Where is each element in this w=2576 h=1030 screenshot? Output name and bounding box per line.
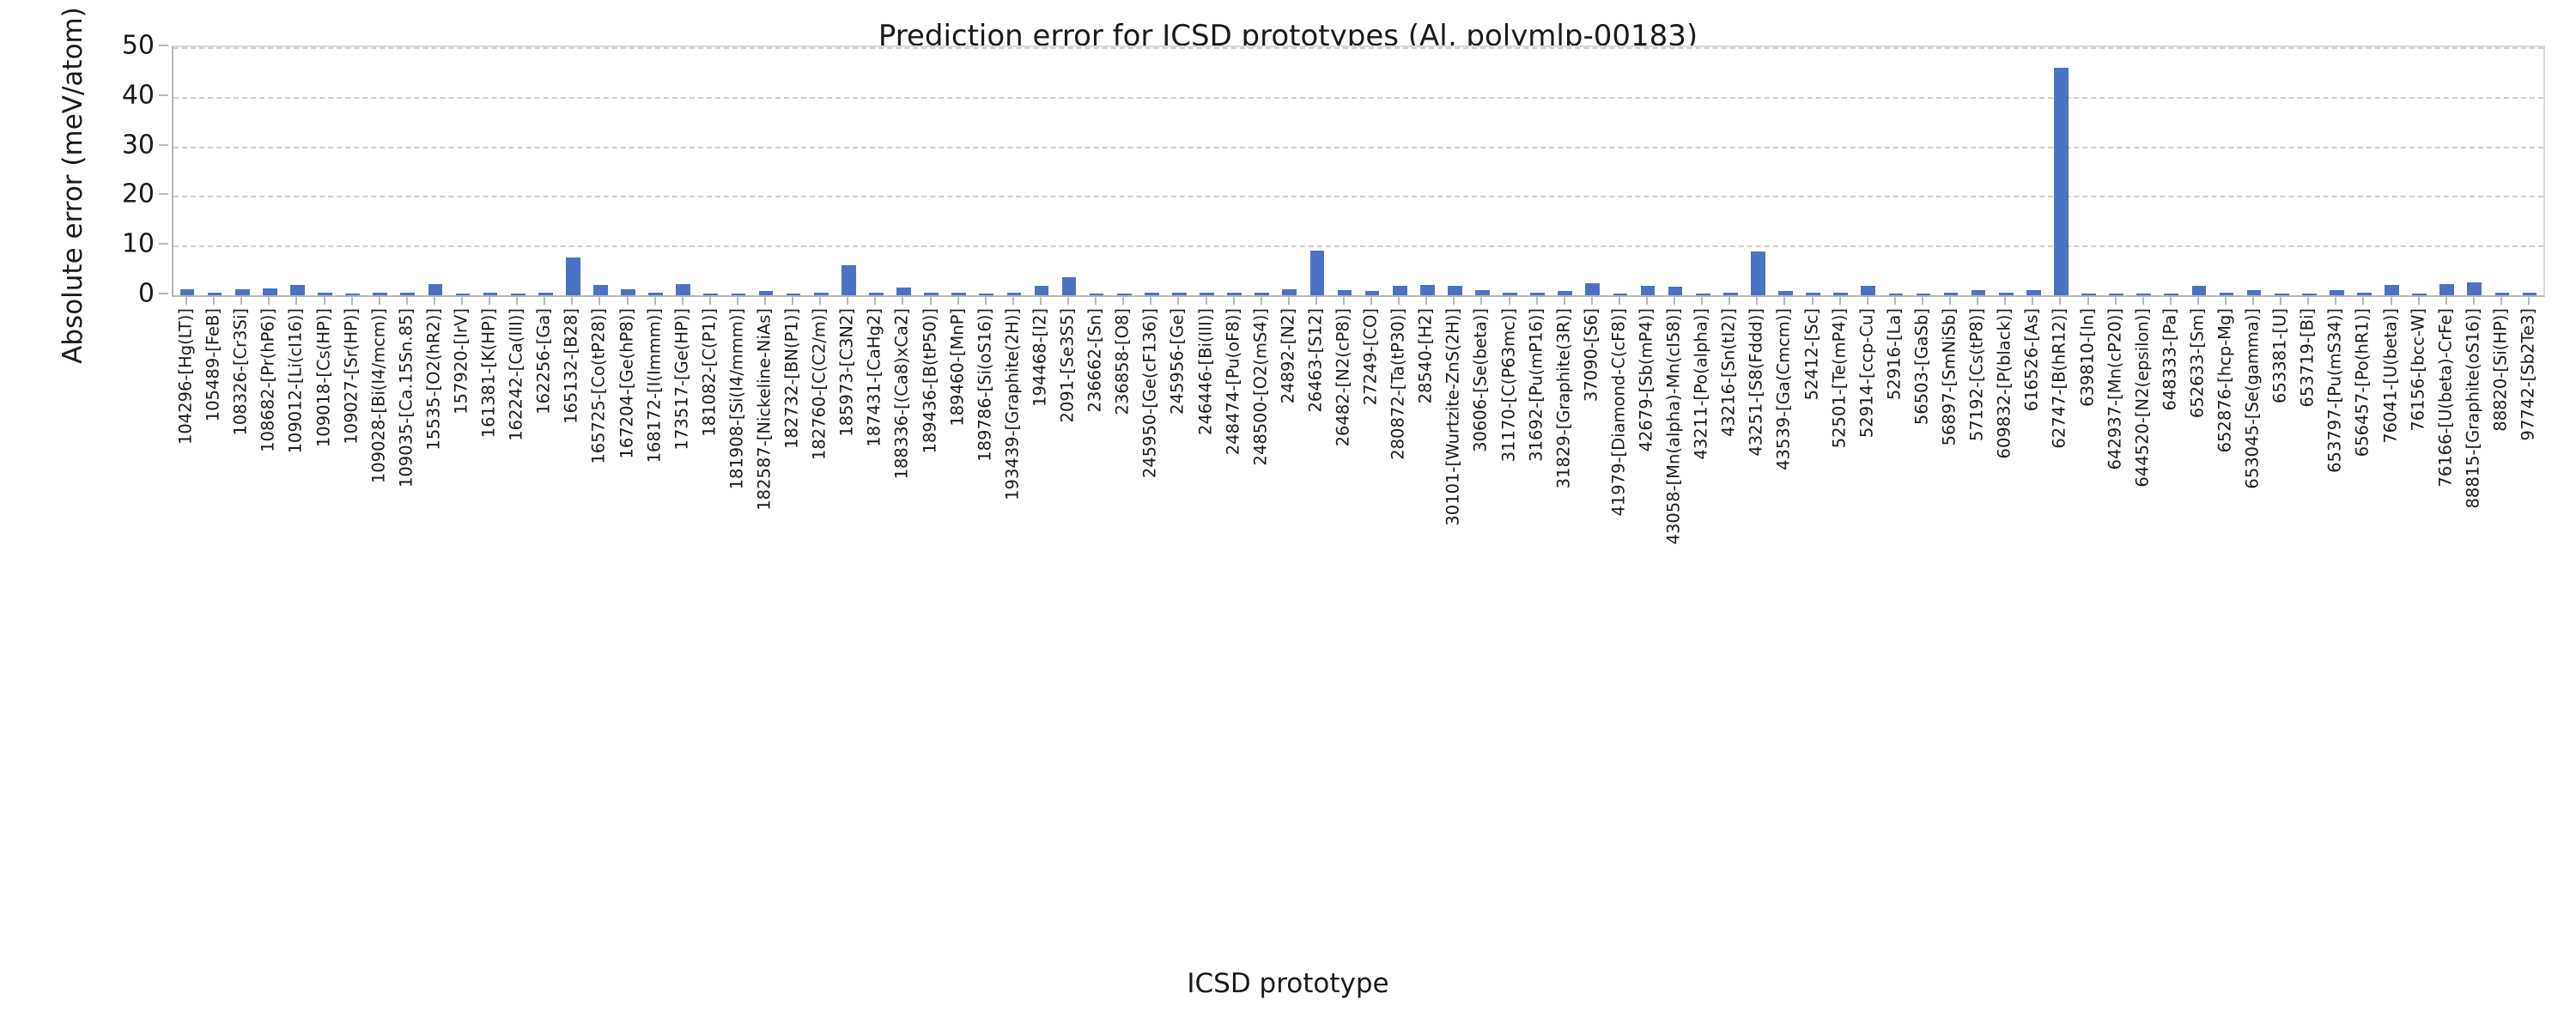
x-tick-mark (516, 296, 518, 305)
bar-slot (1028, 47, 1055, 295)
x-tick-label: 188336-[(Ca8)xCa2] (894, 308, 911, 479)
x-tick-mark (1425, 296, 1427, 305)
bar (235, 289, 250, 296)
bar (1999, 293, 2014, 295)
bar-slot (1662, 47, 1689, 295)
x-tick-label: 280872-[Ta(tP30)] (1389, 308, 1406, 460)
bar-slot (1607, 47, 1634, 295)
x-tick-mark (1012, 296, 1014, 305)
bar (1035, 286, 1049, 295)
bar-slot (1497, 47, 1524, 295)
bar (1944, 293, 1959, 295)
bar (1338, 290, 1352, 295)
x-tick-mark (1095, 296, 1097, 305)
x-tick-label: 30606-[Se(beta)] (1473, 308, 1490, 452)
x-tick-label: 27249-[CO] (1362, 308, 1379, 405)
x-tick-label: 187431-[CaHg2] (866, 308, 884, 447)
bar (951, 293, 966, 295)
bar-slot (2185, 47, 2213, 295)
bar-slot (2075, 47, 2102, 295)
bar-slot (1579, 47, 1607, 295)
bar (896, 288, 911, 295)
bar-slot (311, 47, 338, 295)
bar (2247, 290, 2262, 295)
x-tick-mark (434, 296, 435, 305)
bar-slot (1138, 47, 1165, 295)
bar (2054, 68, 2069, 295)
bar (1227, 293, 1242, 295)
bar (2385, 285, 2399, 295)
bar (456, 294, 471, 295)
bar (373, 293, 387, 295)
x-tick-mark (1122, 296, 1124, 305)
x-tick-label: 181908-[Si(I4/mmm)] (728, 308, 745, 489)
bar (2523, 293, 2537, 295)
bar (1200, 293, 1214, 295)
bar-slot (201, 47, 228, 295)
x-tick-label: 28540-[H2] (1418, 308, 1435, 403)
x-tick-mark (2307, 296, 2309, 305)
x-tick-label: 109028-[Bi(I4/mcm)] (370, 308, 387, 483)
bar-slot (725, 47, 752, 295)
bar-slot (752, 47, 780, 295)
x-tick-mark (792, 296, 793, 305)
x-tick-mark (1398, 296, 1400, 305)
x-tick-label: 194468-[I2] (1031, 308, 1048, 407)
bar (2357, 293, 2372, 295)
bar (979, 294, 993, 295)
bar-slot (2350, 47, 2378, 295)
x-tick-mark (489, 296, 490, 305)
x-tick-label: 62747-[B(hR12)] (2051, 308, 2069, 449)
bar (483, 293, 498, 295)
bar (593, 285, 608, 295)
x-tick-label: 182587-[Nickeline-NiAs] (756, 308, 773, 511)
x-tick-mark (406, 296, 408, 305)
x-tick-mark (1536, 296, 1538, 305)
bar-slot (1524, 47, 1552, 295)
x-tick-mark (709, 296, 711, 305)
bar (511, 294, 526, 295)
bar-series (173, 47, 2543, 295)
x-tick-label: 185973-[C3N2] (839, 308, 856, 437)
x-tick-label: 43216-[Sn(tI2)] (1721, 308, 1738, 437)
bar (180, 289, 195, 295)
x-tick-mark (2170, 296, 2172, 305)
bar (2439, 284, 2454, 295)
bar (1723, 293, 1738, 295)
x-tick-label: 56897-[SmNiSb] (1941, 308, 1958, 445)
x-tick-mark (1977, 296, 1978, 305)
bar (2109, 294, 2123, 295)
bar-slot (1276, 47, 1303, 295)
x-tick-label: 43058-[Mn(alpha)-Mn(cI58)] (1665, 308, 1682, 544)
x-tick-label: 31692-[Pu(mP16)] (1528, 308, 1545, 462)
x-tick-label: 109012-[Li(cI16)] (288, 308, 305, 453)
bar-slot (2268, 47, 2295, 295)
x-tick-mark (379, 296, 380, 305)
y-tick-mark (159, 293, 168, 294)
bar (703, 294, 718, 295)
bar-slot (449, 47, 477, 295)
bar-slot (1055, 47, 1083, 295)
bar (2302, 294, 2317, 295)
x-tick-mark (2500, 296, 2502, 305)
bar (732, 294, 746, 295)
bar (2220, 293, 2234, 295)
bar (263, 288, 277, 295)
bar-slot (559, 47, 586, 295)
bar (924, 293, 939, 295)
bar-slot (670, 47, 697, 295)
x-tick-label: 245950-[Ge(cF136)] (1142, 308, 1159, 478)
x-tick-label: 652633-[Sm] (2189, 308, 2206, 418)
bar-slot (1634, 47, 1662, 295)
x-tick-label: 57192-[Cs(tP8)] (1968, 308, 1985, 441)
bar (676, 284, 690, 295)
bar (1503, 293, 1517, 295)
bar (1090, 294, 1104, 295)
x-tick-mark (2197, 296, 2199, 305)
bar (1393, 286, 1407, 295)
x-axis-label: ICSD prototype (0, 968, 2576, 999)
bar-slot (2433, 47, 2461, 295)
x-tick-label: 26463-[S12] (1307, 308, 1324, 412)
bar (1530, 293, 1545, 295)
x-tick-label: 108682-[Pr(hP6)] (260, 308, 277, 452)
x-tick-mark (1067, 296, 1069, 305)
bar (290, 285, 305, 295)
bar (1448, 286, 1462, 295)
x-tick-label: 76156-[bcc-W] (2409, 308, 2427, 432)
x-tick-mark (957, 296, 959, 305)
x-tick-mark (1261, 296, 1262, 305)
x-tick-label: 173517-[Ge(HP)] (673, 308, 690, 450)
x-tick-label: 52412-[Sc] (1803, 308, 1820, 400)
bar-slot (2406, 47, 2433, 295)
bar (869, 293, 884, 295)
x-tick-label: 161381-[K(HP)] (480, 308, 497, 438)
x-tick-mark (571, 296, 573, 305)
bar-slot (367, 47, 394, 295)
bar (400, 293, 415, 295)
bar (2026, 290, 2041, 295)
x-tick-label: 31829-[Graphite(3R)] (1555, 308, 1572, 488)
x-tick-mark (2115, 296, 2117, 305)
bar (2330, 290, 2344, 295)
bar (1145, 293, 1159, 295)
bar-slot (2213, 47, 2240, 295)
x-tick-label: 653719-[Bi] (2300, 308, 2317, 408)
x-tick-mark (2252, 296, 2254, 305)
x-tick-label: 168172-[I(Immm)] (646, 308, 663, 463)
x-tick-mark (213, 296, 215, 305)
x-tick-label: 653045-[Se(gamma)] (2244, 308, 2261, 489)
x-tick-mark (682, 296, 683, 305)
x-tick-mark (351, 296, 353, 305)
x-tick-label: 24892-[N2] (1279, 308, 1297, 403)
bar (1613, 294, 1628, 295)
x-tick-mark (2225, 296, 2227, 305)
x-tick-mark (902, 296, 903, 305)
bar-slot (477, 47, 504, 295)
x-tick-label: 76166-[U(beta)-CrFe] (2437, 308, 2454, 488)
bar-slot (1882, 47, 1910, 295)
y-tick-mark (159, 144, 168, 146)
x-tick-mark (295, 296, 297, 305)
bar (1117, 294, 1132, 295)
x-tick-mark (1343, 296, 1345, 305)
bar-slot (532, 47, 559, 295)
bar (1420, 285, 1435, 295)
x-tick-mark (2362, 296, 2364, 305)
y-tick-mark (159, 243, 168, 245)
x-tick-label: 642937-[Mn(cP20)] (2106, 308, 2123, 470)
x-tick-label: 109018-[Cs(HP)] (315, 308, 332, 447)
bar (538, 293, 553, 295)
bar-slot (1910, 47, 1937, 295)
bar (2081, 294, 2096, 295)
bar (2192, 286, 2207, 295)
x-tick-label: 41979-[Diamond-C(cF8)] (1610, 308, 1627, 517)
bar-slot (2488, 47, 2516, 295)
bar (1475, 290, 1490, 295)
bar-slot (339, 47, 367, 295)
bar-slot (642, 47, 670, 295)
bar (2495, 293, 2510, 295)
bar-slot (394, 47, 422, 295)
bar-slot (1110, 47, 1138, 295)
x-tick-mark (627, 296, 629, 305)
bar-slot (2240, 47, 2268, 295)
x-tick-label: 109035-[Ca.15Sn.85] (398, 308, 415, 488)
x-tick-label: 52914-[ccp-Cu] (1858, 308, 1875, 438)
x-tick-mark (737, 296, 738, 305)
plot-area (172, 45, 2545, 297)
x-tick-mark (1783, 296, 1785, 305)
bar (208, 293, 222, 295)
bar-slot (1441, 47, 1468, 295)
x-tick-label: 189460-[MnP] (949, 308, 966, 427)
x-tick-label: 30101-[Wurtzite-ZnS(2H)] (1445, 308, 1462, 526)
x-tick-mark (930, 296, 932, 305)
x-tick-mark (1453, 296, 1455, 305)
bar-slot (586, 47, 614, 295)
x-tick-mark (544, 296, 545, 305)
x-tick-mark (268, 296, 270, 305)
x-tick-mark (1756, 296, 1758, 305)
bar (1282, 289, 1297, 295)
x-tick-label: 181082-[C(P1)] (701, 308, 718, 437)
x-tick-mark (1177, 296, 1179, 305)
x-tick-mark (2445, 296, 2447, 305)
y-tick-mark (159, 193, 168, 195)
x-tick-label: 656457-[Po(hR1)] (2354, 308, 2372, 457)
bar (2164, 294, 2178, 295)
x-tick-mark (2032, 296, 2033, 305)
bar (1558, 291, 1572, 295)
x-tick-mark (654, 296, 656, 305)
x-tick-mark (1812, 296, 1814, 305)
bar (1751, 251, 1765, 295)
x-tick-label: 97742-[Sb2Te3] (2519, 308, 2537, 440)
x-tick-mark (185, 296, 187, 305)
bar-slot (1000, 47, 1028, 295)
x-tick-label: 189786-[Si(oS16)] (976, 308, 993, 462)
x-tick-label: 43251-[S8(Fddd)] (1748, 308, 1765, 457)
bar-slot (945, 47, 973, 295)
x-tick-label: 2091-[Se3S5] (1059, 308, 1076, 422)
bar (841, 265, 856, 295)
x-tick-mark (1619, 296, 1620, 305)
x-tick-label: 648333-[Pa] (2161, 308, 2178, 411)
x-tick-label: 43211-[Po(alpha)] (1692, 308, 1710, 460)
bar-slot (2047, 47, 2075, 295)
x-tick-mark (1701, 296, 1703, 305)
bar-slot (2020, 47, 2047, 295)
x-tick-label: 616526-[As] (2024, 308, 2041, 411)
x-tick-mark (1509, 296, 1510, 305)
x-tick-mark (874, 296, 876, 305)
bar-slot (1249, 47, 1276, 295)
bar-slot (1552, 47, 1579, 295)
x-tick-mark (1728, 296, 1730, 305)
x-tick-mark (240, 296, 242, 305)
x-tick-mark (847, 296, 848, 305)
x-tick-label: 248474-[Pu(oF8)] (1224, 308, 1242, 455)
bar (1696, 294, 1710, 295)
x-tick-label: 52916-[La] (1886, 308, 1903, 400)
bar-slot (1303, 47, 1331, 295)
x-tick-mark (1674, 296, 1675, 305)
x-tick-mark (1480, 296, 1482, 305)
bar-slot (2379, 47, 2406, 295)
x-tick-mark (461, 296, 463, 305)
x-tick-mark (324, 296, 325, 305)
bar (787, 294, 801, 295)
x-tick-mark (2335, 296, 2336, 305)
x-tick-mark (1233, 296, 1235, 305)
bar (1007, 293, 1022, 295)
x-tick-mark (2473, 296, 2475, 305)
x-tick-label: 236662-[Sn] (1086, 308, 1103, 412)
x-tick-mark (1591, 296, 1593, 305)
bar-slot (1083, 47, 1110, 295)
bar-slot (890, 47, 917, 295)
bar-slot (2158, 47, 2185, 295)
bar-slot (1331, 47, 1358, 295)
bar-slot (1827, 47, 1855, 295)
x-tick-mark (1839, 296, 1841, 305)
bar-slot (504, 47, 532, 295)
x-tick-label: 182760-[C(C2/m)] (811, 308, 828, 460)
bar-slot (1165, 47, 1193, 295)
y-tick-label: 20 (122, 179, 155, 209)
bar (1641, 286, 1656, 295)
bar (1861, 286, 1875, 295)
x-tick-label: 165725-[Co(tP28)] (591, 308, 608, 464)
x-tick-mark (764, 296, 766, 305)
x-tick-label: 42679-[Sb(mP4)] (1637, 308, 1655, 451)
bar-slot (807, 47, 835, 295)
bar-slot (256, 47, 283, 295)
x-tick-label: 639810-[In] (2079, 308, 2096, 407)
bar-slot (973, 47, 1000, 295)
x-tick-label: 76041-[U(beta)] (2382, 308, 2399, 444)
x-tick-label: 182732-[BN(P1)] (783, 308, 800, 449)
x-tick-mark (1040, 296, 1042, 305)
bar-slot (1937, 47, 1965, 295)
x-tick-label: 162256-[Ga] (536, 308, 553, 415)
y-tick-mark (159, 45, 168, 46)
bar-slot (2295, 47, 2323, 295)
bar (2467, 282, 2482, 295)
x-tick-mark (1867, 296, 1868, 305)
y-tick-label: 30 (122, 130, 155, 160)
x-tick-label: 193439-[Graphite(2H)] (1004, 308, 1021, 500)
x-tick-mark (2087, 296, 2089, 305)
bar-slot (1413, 47, 1441, 295)
x-tick-mark (1564, 296, 1565, 305)
x-tick-label: 104296-[Hg(LT)] (177, 308, 194, 445)
bar-slot (862, 47, 890, 295)
bar (1971, 290, 1986, 295)
x-tick-label: 157920-[IrV] (453, 308, 470, 415)
bar-slot (1386, 47, 1413, 295)
x-tick-label: 189436-[B(tP50)] (921, 308, 939, 454)
x-tick-mark (985, 296, 987, 305)
x-tick-label: 31170-[C(P63mc)] (1500, 308, 1517, 462)
bar (1778, 291, 1793, 295)
bar-slot (1800, 47, 1827, 295)
x-tick-label: 88815-[Graphite(oS16)] (2464, 308, 2482, 509)
x-tick-label: 652876-[hcp-Mg] (2216, 308, 2233, 452)
bar (621, 289, 635, 296)
bar (1310, 251, 1325, 295)
bar (2412, 294, 2427, 295)
bar-slot (2130, 47, 2158, 295)
x-tick-label: 56503-[GaSb] (1913, 308, 1930, 425)
y-tick-label: 10 (122, 229, 155, 259)
x-tick-label: 109027-[Sr(HP)] (343, 308, 360, 445)
bar-slot (283, 47, 311, 295)
x-tick-label: 653797-[Pu(mS34)] (2327, 308, 2344, 473)
bar (2275, 294, 2289, 295)
x-tick-label: 105489-[FeB] (204, 308, 222, 421)
x-tick-label: 246446-[Bi(III)] (1197, 308, 1214, 435)
bar (2136, 294, 2151, 295)
bar (428, 284, 443, 295)
x-tick-label: 88820-[Si(HP)] (2492, 308, 2509, 432)
bar-slot (615, 47, 642, 295)
bar (814, 293, 829, 295)
x-tick-mark (1315, 296, 1317, 305)
x-tick-mark (1949, 296, 1951, 305)
x-tick-label: 165132-[B28] (563, 308, 580, 424)
x-tick-mark (2528, 296, 2530, 305)
x-tick-label: 52501-[Te(mP4)] (1831, 308, 1848, 448)
x-tick-mark (1288, 296, 1290, 305)
bar (1062, 277, 1077, 295)
x-tick-label: 644520-[N2(epsilon)] (2134, 308, 2151, 488)
y-tick-mark (159, 94, 168, 96)
y-tick-label: 0 (138, 279, 155, 309)
bar-slot (2461, 47, 2488, 295)
x-tick-label: 37090-[S6] (1583, 308, 1600, 402)
bar-slot (228, 47, 256, 295)
bar-slot (2323, 47, 2350, 295)
x-tick-mark (2280, 296, 2281, 305)
